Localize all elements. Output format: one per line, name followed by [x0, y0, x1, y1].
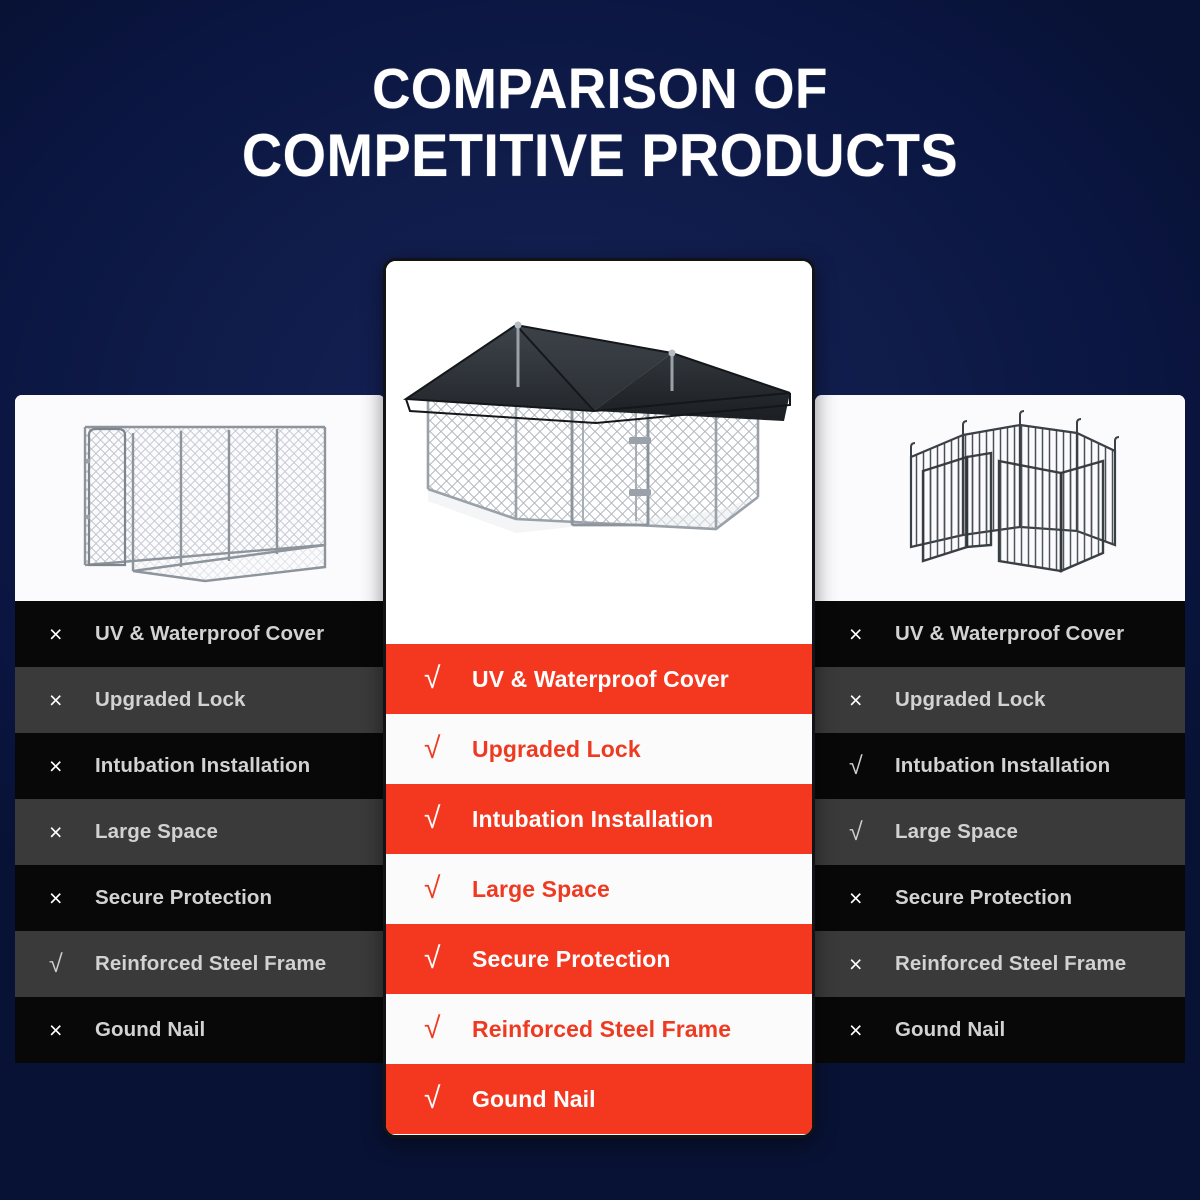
feature-row: √ Intubation Installation: [386, 784, 812, 854]
feature-row: √ Large Space: [386, 854, 812, 924]
feature-label: UV & Waterproof Cover: [472, 666, 729, 693]
check-icon: √: [49, 952, 95, 977]
feature-row: × Gound Nail: [815, 997, 1185, 1063]
cross-icon: ×: [49, 1019, 95, 1042]
feature-row: √ Large Space: [815, 799, 1185, 865]
feature-label: Intubation Installation: [95, 754, 310, 778]
feature-row: √ Reinforced Steel Frame: [386, 994, 812, 1064]
feature-label: Reinforced Steel Frame: [472, 1016, 731, 1043]
cross-icon: ×: [49, 689, 95, 712]
feature-label: Gound Nail: [472, 1086, 596, 1113]
feature-row: √ Gound Nail: [386, 1064, 812, 1134]
product-image-right: [815, 395, 1185, 601]
feature-row: × UV & Waterproof Cover: [815, 601, 1185, 667]
cross-icon: ×: [849, 887, 895, 910]
feature-row: × Secure Protection: [815, 865, 1185, 931]
cross-icon: ×: [849, 953, 895, 976]
feature-label: Large Space: [472, 876, 610, 903]
feature-label: Reinforced Steel Frame: [95, 952, 326, 976]
infographic-canvas: COMPARISON OF COMPETITIVE PRODUCTS: [0, 0, 1200, 1200]
feature-label: UV & Waterproof Cover: [95, 622, 324, 646]
cross-icon: ×: [49, 755, 95, 778]
feature-row: × Upgraded Lock: [15, 667, 385, 733]
product-image-center: [386, 261, 812, 644]
check-icon: √: [424, 804, 472, 834]
cross-icon: ×: [849, 689, 895, 712]
feature-rows-right: × UV & Waterproof Cover × Upgraded Lock …: [815, 601, 1185, 1063]
feature-row: √ UV & Waterproof Cover: [386, 644, 812, 714]
featured-product-panel: √ UV & Waterproof Cover √ Upgraded Lock …: [383, 258, 815, 1138]
check-icon: √: [424, 664, 472, 694]
competitor-right-column: × UV & Waterproof Cover × Upgraded Lock …: [815, 395, 1185, 1063]
feature-row: × Secure Protection: [15, 865, 385, 931]
feature-label: Gound Nail: [895, 1018, 1005, 1042]
feature-label: UV & Waterproof Cover: [895, 622, 1124, 646]
feature-label: Gound Nail: [95, 1018, 205, 1042]
feature-rows-left: × UV & Waterproof Cover × Upgraded Lock …: [15, 601, 385, 1063]
feature-label: Secure Protection: [472, 946, 671, 973]
feature-label: Secure Protection: [895, 886, 1072, 910]
feature-label: Upgraded Lock: [895, 688, 1046, 712]
cross-icon: ×: [49, 887, 95, 910]
feature-row: × Gound Nail: [15, 997, 385, 1063]
feature-row: × Intubation Installation: [15, 733, 385, 799]
product-image-left: [15, 395, 385, 601]
check-icon: √: [424, 874, 472, 904]
check-icon: √: [424, 944, 472, 974]
cross-icon: ×: [849, 623, 895, 646]
check-icon: √: [849, 754, 895, 779]
feature-label: Upgraded Lock: [472, 736, 641, 763]
check-icon: √: [424, 1084, 472, 1114]
page-title: COMPARISON OF COMPETITIVE PRODUCTS: [42, 58, 1158, 189]
check-icon: √: [424, 734, 472, 764]
feature-label: Large Space: [95, 820, 218, 844]
cross-icon: ×: [849, 1019, 895, 1042]
feature-label: Intubation Installation: [472, 806, 713, 833]
cross-icon: ×: [49, 623, 95, 646]
check-icon: √: [424, 1014, 472, 1044]
competitor-left-column: × UV & Waterproof Cover × Upgraded Lock …: [15, 395, 385, 1063]
cross-icon: ×: [49, 821, 95, 844]
feature-label: Large Space: [895, 820, 1018, 844]
title-line-2: COMPETITIVE PRODUCTS: [42, 122, 1158, 189]
feature-row: × Reinforced Steel Frame: [815, 931, 1185, 997]
feature-label: Reinforced Steel Frame: [895, 952, 1126, 976]
feature-rows-center: √ UV & Waterproof Cover √ Upgraded Lock …: [386, 644, 812, 1134]
feature-label: Secure Protection: [95, 886, 272, 910]
feature-row: × Upgraded Lock: [815, 667, 1185, 733]
check-icon: √: [849, 820, 895, 845]
feature-row: √ Secure Protection: [386, 924, 812, 994]
feature-row: √ Upgraded Lock: [386, 714, 812, 784]
feature-row: √ Reinforced Steel Frame: [15, 931, 385, 997]
feature-label: Upgraded Lock: [95, 688, 246, 712]
feature-row: × UV & Waterproof Cover: [15, 601, 385, 667]
title-line-1: COMPARISON OF: [372, 57, 828, 121]
feature-label: Intubation Installation: [895, 754, 1110, 778]
feature-row: √ Intubation Installation: [815, 733, 1185, 799]
feature-row: × Large Space: [15, 799, 385, 865]
